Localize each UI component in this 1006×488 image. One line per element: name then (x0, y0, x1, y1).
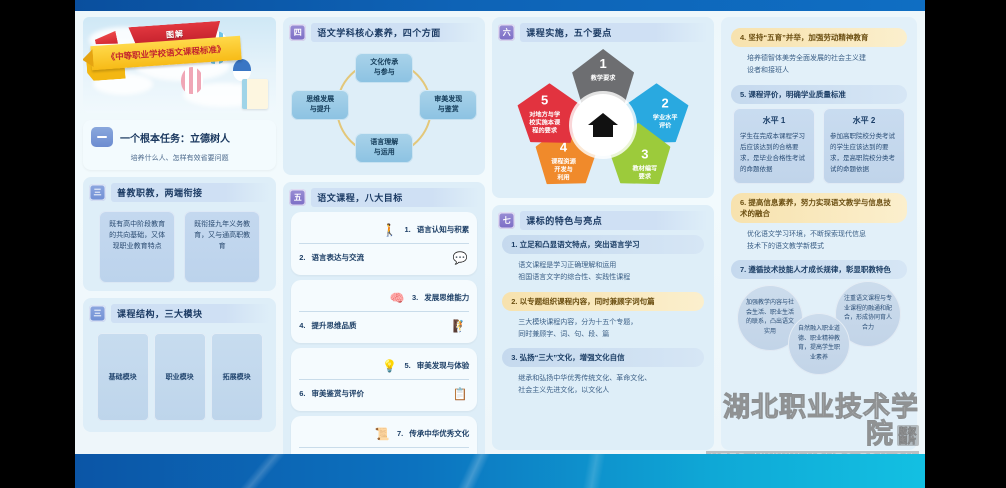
section-badge: 六 (498, 24, 515, 41)
feature-heading: 6. 提高信息素养，努力实现语文教学与信息技术的融合 (731, 193, 907, 223)
module-card: 拓展模块 (211, 333, 263, 421)
brain-icon: 🧠 (388, 289, 406, 307)
linkage-card: 既有高中阶段教育的共向基础，又体现职业教育特点 (99, 211, 175, 283)
feature-body: 语文课程是学习正确理解和运用 祖国语言文字的综合性、实践性课程 (502, 254, 704, 287)
goal-label: 传承中华优秀文化 (409, 428, 469, 439)
house-icon (588, 113, 618, 137)
section-features: 七 课标的特色与亮点 1. 立足和凸显语文特点，突出语言学习 语文课程是学习正确… (492, 205, 714, 450)
section-badge: 三 (89, 184, 106, 201)
person-icon: 🚶 (380, 221, 398, 239)
goal-pair-card: 🚶 1. 语言认知与积累 2. 语言表达与交流 💬 (291, 212, 477, 275)
feature-body: 培养德智体美劳全面发展的社会主义建 设者和接班人 (731, 47, 907, 80)
goal-label: 发展思维能力 (424, 292, 469, 303)
divider (299, 447, 469, 448)
feature-body: 优化语文学习环境，不断探索现代信息 技术下的语文教学新模式 (731, 223, 907, 256)
feature-body: 三大模块课程内容，分为十五个专题， 同时兼顾字、词、句、段、篇 (502, 311, 704, 344)
section-core-literacy-header: 四 语文学科核心素养，四个方面 (289, 23, 479, 42)
goal-label: 提升思维品质 (311, 320, 356, 331)
column-third: 六 课程实施，五个要点 1 教学要求 2 学业水平 评价 (492, 17, 714, 450)
goal-pair-card: 🧠 3. 发展思维能力 4. 提升思维品质 🧗 (291, 280, 477, 343)
root-task-title: 一个根本任务：立德树人 (120, 130, 230, 145)
section-features-title: 课标的特色与亮点 (520, 211, 708, 230)
section-badge: 七 (498, 212, 515, 229)
top-accent-bar (75, 0, 925, 11)
goal-label: 语言认知与积累 (417, 224, 470, 235)
feature-item: 1. 立足和凸显语文特点，突出语言学习 语文课程是学习正确理解和运用 祖国语言文… (502, 235, 704, 287)
root-task-card: 一个根本任务：立德树人 培养什么人、怎样有效省要问题 (83, 120, 276, 170)
vocational-circles: 加强教学内容与社会生活、职业生活的联系，凸出语文实用 注重语文课程与专业课程的融… (731, 279, 907, 375)
goal-label: 语言表达与交流 (311, 252, 364, 263)
column-right: 4. 坚持“五育”并举，加强劳动精神教育 培养德智体美劳全面发展的社会主义建 设… (721, 17, 917, 450)
lamp-icon: 💡 (380, 357, 398, 375)
bottom-accent-bar (75, 454, 925, 488)
pentagon-hub (572, 94, 634, 156)
core-literacy-diagram: 文化传承 与参与 审美发现 与鉴赏 语言理解 与运用 思维发展 与提升 (289, 47, 479, 169)
feature-heading: 5. 课程评价，明确学业质量标准 (731, 85, 907, 104)
section-linkage: 三 普教职教，两端衔接 既有高中阶段教育的共向基础，又体现职业教育特点 既衔接九… (83, 177, 276, 291)
poster-hero: 图解 《中等职业学校语文课程标准》 (83, 17, 276, 113)
goal-number: 7. (397, 429, 403, 438)
column-second: 四 语文学科核心素养，四个方面 文化传承 与参与 审美发现 与鉴赏 语言理解 与… (283, 17, 485, 450)
section-badge: 四 (289, 24, 306, 41)
feature-item: 2. 以专题组织课程内容，同时兼顾字词句篇 三大模块课程内容，分为十五个专题， … (502, 292, 704, 344)
screen: 图解 《中等职业学校语文课程标准》 一个根本任务：立德树人 培养什么人、怎样有效… (0, 0, 1006, 488)
goal-row: 📜 7. 传承中华优秀文化 (299, 421, 469, 446)
section-linkage-header: 三 普教职教，两端衔接 (89, 183, 270, 202)
section-goals-header: 五 语文课程，八大目标 (289, 188, 479, 207)
literacy-bubble-aesthetics: 审美发现 与鉴赏 (419, 90, 477, 120)
section-core-literacy: 四 语文学科核心素养，四个方面 文化传承 与参与 审美发现 与鉴赏 语言理解 与… (283, 17, 485, 175)
feature-item: 4. 坚持“五育”并举，加强劳动精神教育 培养德智体美劳全面发展的社会主义建 设… (731, 28, 907, 80)
clipboard-icon: 📋 (451, 385, 469, 403)
level-card: 水平 1 学生在完成本课程学习后应该达到的合格要求，是毕业合格性考试的命题依据 (733, 108, 815, 184)
feature-heading: 7. 遵循技术技能人才成长规律，彰显职教特色 (731, 260, 907, 279)
feature-heading: 2. 以专题组织课程内容，同时兼顾字词句篇 (502, 292, 704, 311)
climb-icon: 🧗 (451, 317, 469, 335)
point-number: 1 (572, 56, 634, 73)
feature-heading: 1. 立足和凸显语文特点，突出语言学习 (502, 235, 704, 254)
goal-number: 2. (299, 253, 305, 262)
column-left: 图解 《中等职业学校语文课程标准》 一个根本任务：立德树人 培养什么人、怎样有效… (83, 17, 276, 450)
point-label: 对地方与学 校实施本课 程的要求 (529, 112, 560, 135)
section-goals-title: 语文课程，八大目标 (311, 188, 479, 207)
section-core-literacy-title: 语文学科核心素养，四个方面 (311, 23, 479, 42)
point-number: 2 (634, 95, 696, 112)
section-features-header: 七 课标的特色与亮点 (498, 211, 708, 230)
literacy-bubble-language: 语言理解 与运用 (355, 133, 413, 163)
goal-row: 💡 5. 审美发现与体验 (299, 353, 469, 378)
feature-item: 3. 弘扬“三大”文化，增强文化自信 继承和弘扬中华优秀传统文化、革命文化、 社… (502, 348, 704, 400)
section-structure: 三 课程结构，三大模块 基础模块 职业模块 拓展模块 (83, 298, 276, 432)
goal-number: 6. (299, 389, 305, 398)
point-label: 教学要求 (591, 75, 616, 82)
feature-item-evaluation: 5. 课程评价，明确学业质量标准 水平 1 学生在完成本课程学习后应该达到的合格… (731, 85, 907, 188)
point-label: 课程资源 开发与 利用 (551, 158, 576, 181)
goal-number: 1. (404, 225, 410, 234)
divider (299, 379, 469, 380)
section-structure-title: 课程结构，三大模块 (111, 304, 270, 323)
point-label: 教材编写 要求 (632, 166, 657, 181)
pentagon-diagram: 1 教学要求 2 学业水平 评价 3 教材编写 要 (498, 47, 708, 192)
level-card: 水平 2 参加高职院校分类考试的学生应该达到的要求，是高职院校分类考试的命题依据 (823, 108, 905, 184)
module-card: 职业模块 (154, 333, 206, 421)
section-implementation: 六 课程实施，五个要点 1 教学要求 2 学业水平 评价 (492, 17, 714, 198)
minus-badge-icon (91, 127, 113, 147)
feature-heading: 3. 弘扬“三大”文化，增强文化自信 (502, 348, 704, 367)
feature-body: 继承和弘扬中华优秀传统文化、革命文化、 社会主义先进文化，以文化人 (502, 367, 704, 400)
root-task-subtitle: 培养什么人、怎样有效省要问题 (91, 153, 268, 163)
linkage-card: 既衔接九年义务教育，又与通高职教育 (184, 211, 260, 283)
video-frame: 图解 《中等职业学校语文课程标准》 一个根本任务：立德树人 培养什么人、怎样有效… (75, 0, 925, 488)
section-implementation-title: 课程实施，五个要点 (520, 23, 708, 42)
literacy-bubble-thinking: 思维发展 与提升 (291, 90, 349, 120)
goal-row: 2. 语言表达与交流 💬 (299, 245, 469, 270)
divider (299, 311, 469, 312)
section-goals: 五 语文课程，八大目标 🚶 1. 语言认知与积累 2. 语言表达与交流 (283, 182, 485, 488)
point-label: 学业水平 评价 (653, 114, 678, 129)
scroll-icon: 📜 (373, 425, 391, 443)
vocational-circle: 自然融入职业道德、职业精神教育，提高学生职业素养 (788, 313, 850, 375)
level-body: 参加高职院校分类考试的学生应该达到的要求，是高职院校分类考试的命题依据 (830, 131, 898, 175)
level-name: 水平 2 (830, 115, 898, 126)
level-name: 水平 1 (740, 115, 808, 126)
level-body: 学生在完成本课程学习后应该达到的合格要求，是毕业合格性考试的命题依据 (740, 131, 808, 175)
goal-row: 4. 提升思维品质 🧗 (299, 313, 469, 338)
point-number: 3 (614, 147, 676, 164)
point-number: 5 (514, 93, 576, 110)
speech-icon: 💬 (451, 249, 469, 267)
section-implementation-header: 六 课程实施，五个要点 (498, 23, 708, 42)
hot-air-balloon-icon (181, 67, 203, 94)
book-icon (242, 79, 268, 109)
literacy-bubble-culture: 文化传承 与参与 (355, 53, 413, 83)
section-badge: 五 (289, 189, 306, 206)
goal-number: 3. (412, 293, 418, 302)
divider (299, 243, 469, 244)
goal-row: 🧠 3. 发展思维能力 (299, 285, 469, 310)
goal-row: 6. 审美鉴赏与评价 📋 (299, 381, 469, 406)
goal-number: 5. (404, 361, 410, 370)
goal-row: 🚶 1. 语言认知与积累 (299, 217, 469, 242)
section-features-continued: 4. 坚持“五育”并举，加强劳动精神教育 培养德智体美劳全面发展的社会主义建 设… (721, 17, 917, 450)
goal-pair-card: 💡 5. 审美发现与体验 6. 审美鉴赏与评价 📋 (291, 348, 477, 411)
module-card: 基础模块 (97, 333, 149, 421)
infographic-poster: 图解 《中等职业学校语文课程标准》 一个根本任务：立德树人 培养什么人、怎样有效… (75, 11, 925, 454)
goal-label: 审美鉴赏与评价 (311, 388, 364, 399)
goal-number: 4. (299, 321, 305, 330)
feature-item-vocational: 7. 遵循技术技能人才成长规律，彰显职教特色 加强教学内容与社会生活、职业生活的… (731, 260, 907, 375)
feature-item: 6. 提高信息素养，努力实现语文教学与信息技术的融合 优化语文学习环境，不断探索… (731, 193, 907, 256)
goal-label: 审美发现与体验 (417, 360, 470, 371)
section-structure-header: 三 课程结构，三大模块 (89, 304, 270, 323)
hot-air-balloon-icon (233, 59, 251, 81)
feature-heading: 4. 坚持“五育”并举，加强劳动精神教育 (731, 28, 907, 47)
section-badge: 三 (89, 305, 106, 322)
section-linkage-title: 普教职教，两端衔接 (111, 183, 270, 202)
